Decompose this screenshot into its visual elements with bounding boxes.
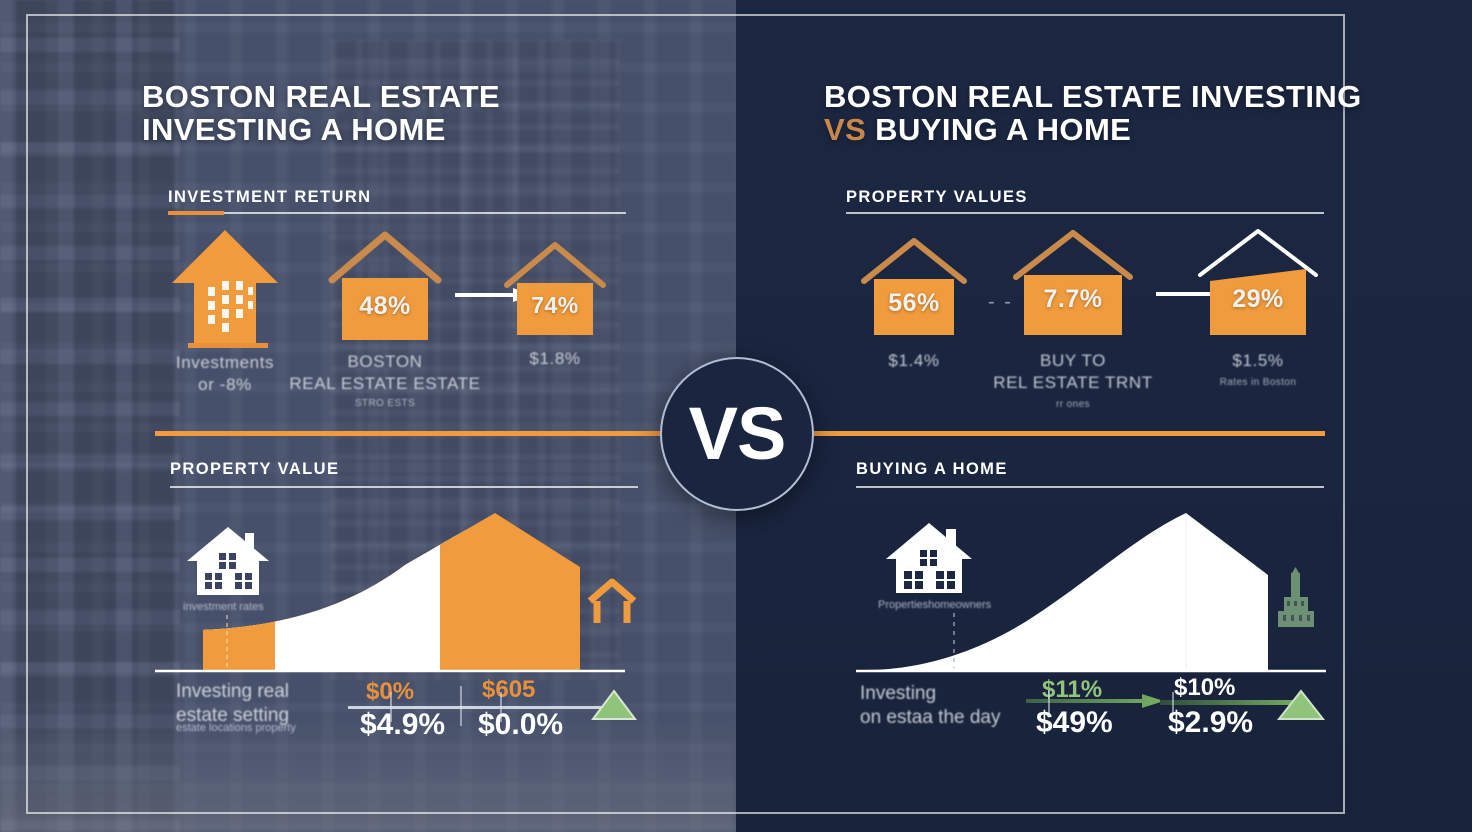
right-title-line2-wrap: VS BUYING A HOME <box>824 113 1384 146</box>
house-icon <box>998 225 1148 343</box>
left-icon-1: Investments or -8% <box>160 225 290 355</box>
right-icon-2: 7.7% BUY TO REL ESTATE TRNT rr ones <box>998 225 1148 343</box>
infographic-canvas: BOSTON REAL ESTATE INVESTING A HOME INVE… <box>0 0 1472 832</box>
left-section-property-value: PROPERTY VALUE <box>170 460 339 479</box>
right-stat-tick-1 <box>1048 690 1050 716</box>
left-stat-tick-2 <box>460 686 462 726</box>
right-icon-3-value: 29% <box>1188 285 1328 314</box>
house-icon <box>495 237 615 342</box>
right-icon-3: 29% $1.5% Rates in Boston <box>1188 225 1328 343</box>
left-icon-row: Investments or -8% 48% BOSTON REAL ESTAT… <box>0 225 736 410</box>
left-legend-line1: Investing real <box>176 680 289 704</box>
right-icon-2-caption2: REL ESTATE TRNT <box>993 373 1153 393</box>
left-stat-2-top: $605 <box>482 676 535 704</box>
right-area-chart: Propertieshomeowners <box>856 505 1326 675</box>
right-title-line1: BOSTON REAL ESTATE INVESTING <box>824 80 1384 113</box>
left-stat-2-bottom: $0.0% <box>478 708 563 742</box>
left-legend-sub: estate locations property <box>176 722 296 734</box>
left-icon-3: 74% $1.8% <box>495 237 615 342</box>
left-icon-2-caption2: REAL ESTATE ESTATE <box>289 374 480 394</box>
left-icon-2-caption: BOSTON <box>347 352 422 372</box>
left-icon-2-caption-small: STRO ESTS <box>355 398 415 409</box>
left-section-rule <box>168 212 626 214</box>
house-outline-icon <box>585 577 639 627</box>
house-icon-white-roof <box>1188 225 1328 343</box>
house-icon <box>854 233 974 343</box>
left-stat-1-bottom: $4.9% <box>360 708 445 742</box>
left-stat-tick-3 <box>500 692 502 722</box>
right-icon-3-caption: $1.5% <box>1232 351 1283 371</box>
right-icon-2-caption: BUY TO <box>1040 351 1106 371</box>
up-triangle-icon <box>590 688 638 722</box>
left-legend-label: Investing real estate setting <box>176 680 289 728</box>
right-icon-2-caption-small: rr ones <box>1056 399 1090 410</box>
house-icon <box>320 230 450 345</box>
left-title-line2: INVESTING A HOME <box>142 113 612 146</box>
right-chart-house-caption: Propertieshomeowners <box>878 599 991 611</box>
right-legend-line2: on estaa the day <box>860 706 1001 730</box>
left-icon-1-caption2: or -8% <box>198 375 252 395</box>
up-triangle-icon <box>1276 688 1326 722</box>
green-arrow-icon <box>1026 692 1166 710</box>
right-title-line2: BUYING A HOME <box>875 112 1131 147</box>
left-icon-1-caption: Investments <box>176 353 274 373</box>
right-icon-3-caption-small: Rates in Boston <box>1220 377 1297 388</box>
right-icon-row: 56% $1.4% - - 7.7% BUY TO REL ESTATE TRN… <box>736 225 1472 410</box>
building-icon <box>1274 567 1318 629</box>
left-icon-2: 48% BOSTON REAL ESTATE ESTATE STRO ESTS <box>320 230 450 345</box>
right-legend-line1: Investing <box>860 682 1001 706</box>
vs-badge: VS <box>660 357 814 511</box>
right-section-rule <box>846 212 1324 214</box>
left-area-chart: investment rates <box>155 505 625 675</box>
left-stat-line <box>348 706 604 709</box>
left-section-rule-accent <box>168 211 224 215</box>
right-panel: BOSTON REAL ESTATE INVESTING VS BUYING A… <box>736 0 1472 832</box>
right-legend-label: Investing on estaa the day <box>860 682 1001 730</box>
left-panel: BOSTON REAL ESTATE INVESTING A HOME INVE… <box>0 0 736 832</box>
right-section-property-values: PROPERTY VALUES <box>846 188 1028 207</box>
left-title-line1: BOSTON REAL ESTATE <box>142 80 612 113</box>
house-icon <box>185 523 271 599</box>
right-stat-2-bottom: $2.9% <box>1168 706 1253 740</box>
right-title-vs: VS <box>824 112 866 147</box>
left-chart-house-caption: investment rates <box>183 601 264 613</box>
vs-badge-label: VS <box>689 397 786 471</box>
left-section-investment-return: INVESTMENT RETURN <box>168 188 371 207</box>
right-icon-1: 56% $1.4% <box>854 233 974 343</box>
left-icon-3-value: 74% <box>495 292 615 319</box>
left-title: BOSTON REAL ESTATE INVESTING A HOME <box>142 80 612 147</box>
right-section-buying-a-home: BUYING A HOME <box>856 460 1008 479</box>
right-bottom-rule <box>856 486 1324 488</box>
right-icon-1-caption: $1.4% <box>888 351 939 371</box>
right-icon-2-value: 7.7% <box>998 285 1148 314</box>
left-bottom-rule <box>170 486 638 488</box>
right-stat-tick-2 <box>1172 692 1174 714</box>
left-stat-tick-1 <box>390 692 392 722</box>
right-icon-1-value: 56% <box>854 289 974 318</box>
left-icon-2-value: 48% <box>320 292 450 321</box>
left-icon-3-caption: $1.8% <box>529 349 580 369</box>
right-title: BOSTON REAL ESTATE INVESTING VS BUYING A… <box>824 80 1384 147</box>
arrow-house-icon <box>160 225 290 350</box>
house-icon <box>884 519 974 599</box>
